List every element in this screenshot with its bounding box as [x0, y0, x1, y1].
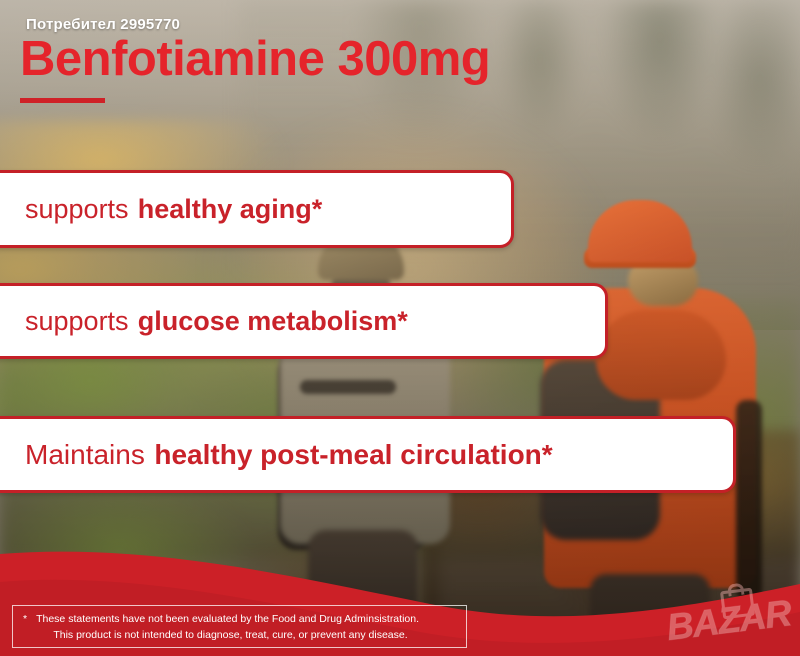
disclaimer-line-1-text: These statements have not been evaluated…	[36, 613, 419, 625]
title-underline-rule	[20, 98, 105, 103]
claim-3-lead: Maintains	[25, 439, 145, 471]
claim-banner-1: supports healthy aging*	[0, 170, 514, 248]
claim-1-emphasis: healthy aging*	[138, 194, 323, 225]
fda-disclaimer: *These statements have not been evaluate…	[12, 605, 467, 648]
hiker-right-beanie	[588, 200, 692, 262]
claim-1-lead: supports	[25, 194, 129, 225]
hiker-right-hood	[596, 310, 726, 400]
page-title: Benfotiamine 300mg	[20, 31, 490, 87]
claim-2-emphasis: glucose metabolism*	[138, 306, 408, 337]
claim-banner-3: Maintains healthy post-meal circulation*	[0, 416, 736, 493]
claim-2-lead: supports	[25, 306, 129, 337]
product-advertisement: Потребител 2995770 Benfotiamine 300mg su…	[0, 0, 800, 656]
shopping-bag-icon	[720, 588, 755, 620]
claim-banner-2: supports glucose metabolism*	[0, 283, 608, 359]
disclaimer-asterisk: *	[23, 613, 27, 625]
claim-3-emphasis: healthy post-meal circulation*	[154, 439, 552, 471]
hiker-left-backpack-strap	[300, 380, 396, 394]
disclaimer-line-1: *These statements have not been evaluate…	[21, 611, 458, 627]
disclaimer-line-2: This product is not intended to diagnose…	[21, 627, 458, 643]
